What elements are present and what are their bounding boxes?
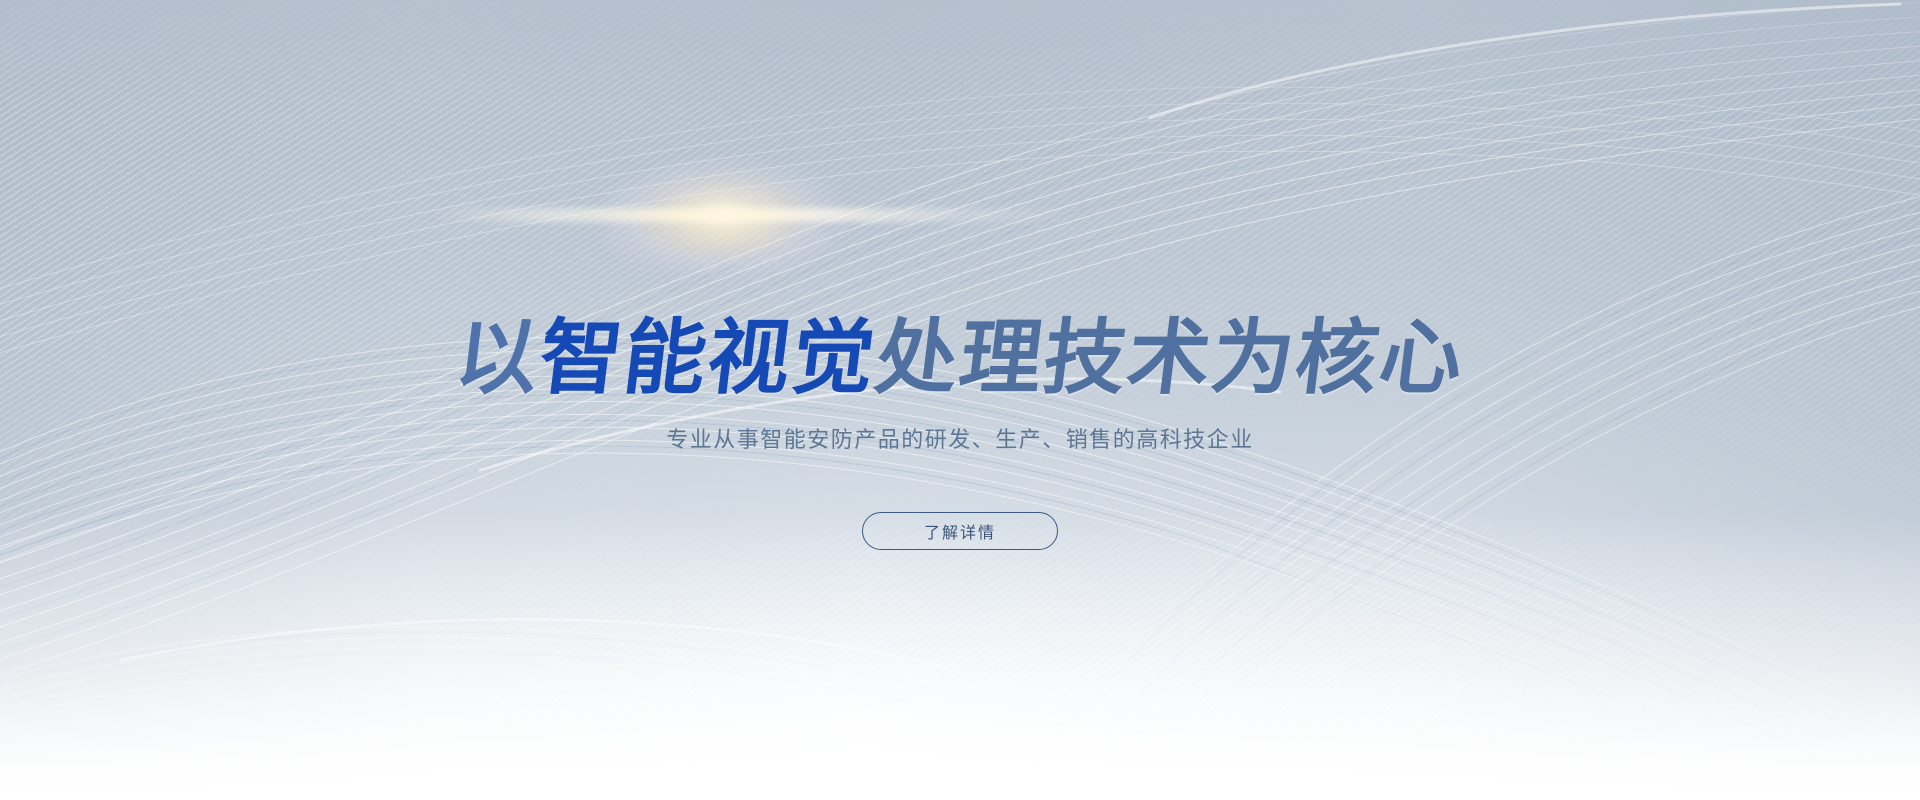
cta-container: 了解详情 (0, 512, 1920, 550)
page-title: 以智能视觉处理技术为核心 (0, 313, 1920, 405)
page-subtitle: 专业从事智能安防产品的研发、生产、销售的高科技企业 (0, 425, 1920, 457)
learn-more-button[interactable]: 了解详情 (862, 512, 1058, 550)
headline-segment-2-accent: 智能视觉 (534, 311, 882, 406)
hero-content: 以智能视觉处理技术为核心 专业从事智能安防产品的研发、生产、销售的高科技企业 了… (0, 0, 1920, 800)
headline-segment-3: 处理技术为核心 (870, 311, 1470, 406)
headline-segment-1: 以 (450, 311, 546, 406)
hero-banner: 以智能视觉处理技术为核心 专业从事智能安防产品的研发、生产、销售的高科技企业 了… (0, 0, 1920, 800)
